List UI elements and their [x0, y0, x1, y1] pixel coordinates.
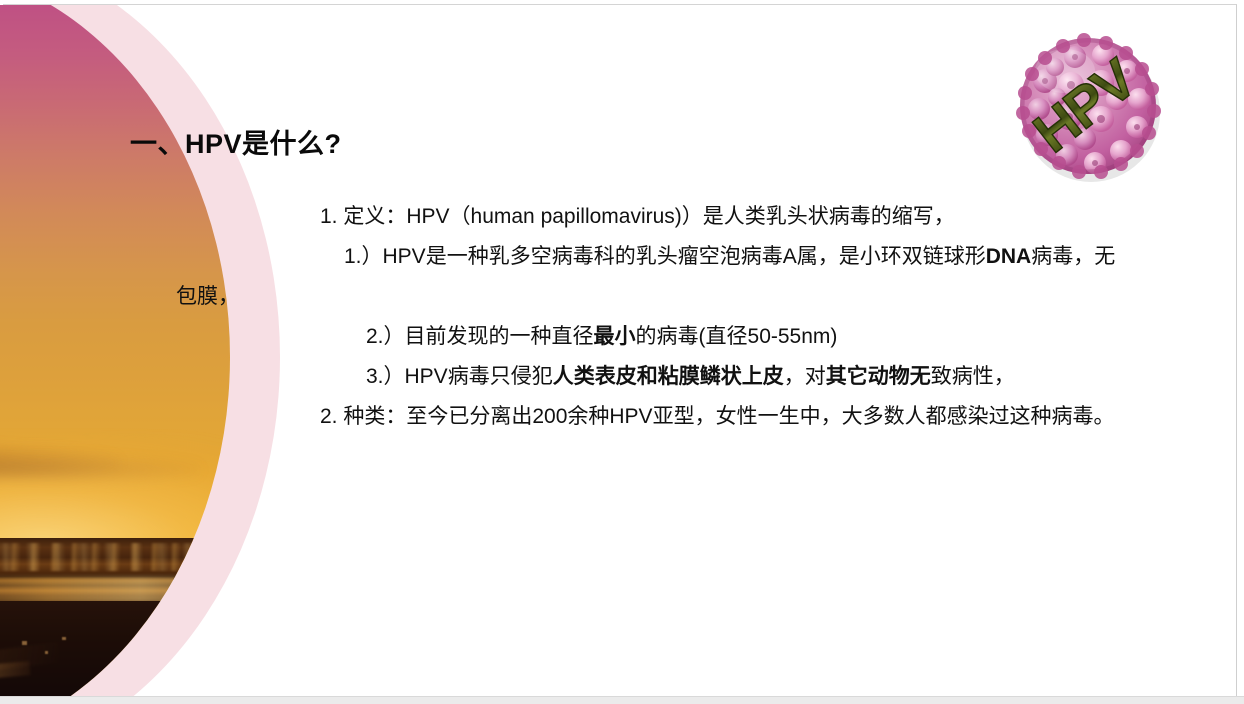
slide-bottom-edge [0, 696, 1244, 704]
body-line-sub-3: 3.）HPV病毒只侵犯人类表皮和粘膜鳞状上皮，对其它动物无致病性， [176, 357, 1116, 397]
body-line-sub-1: 1.）HPV是一种乳多空病毒科的乳头瘤空泡病毒A属，是小环双链球形DNA病毒，无… [176, 237, 1116, 317]
presentation-slide: 一、HPV是什么? [0, 0, 1244, 704]
wet-sand-glint [0, 577, 230, 603]
body-line-sub-3-text-a: 3.）HPV病毒只侵犯 [366, 365, 553, 388]
body-line-sub-3-bold-1: 人类表皮和粘膜鳞状上皮 [553, 365, 784, 388]
body-text-block: 1. 定义：HPV（human papillomavirus)）是人类乳头状病毒… [176, 197, 1116, 437]
body-line-sub-2-text-b: 的病毒(直径50-55nm) [636, 325, 838, 348]
body-line-types-text: 2. 种类：至今已分离出200余种HPV亚型，女性一生中，大多数人都感染过这种病… [320, 405, 1115, 428]
body-line-sub-2-text-a: 2.）目前发现的一种直径 [366, 325, 594, 348]
hpv-virus-svg: HPV [1009, 27, 1167, 185]
body-line-sub-1-text-a: 1.）HPV是一种乳多空病毒科的乳头瘤空泡病毒A属，是小环双链球形 [344, 245, 986, 268]
slide-canvas: 一、HPV是什么? [0, 4, 1237, 696]
foreground-glint-1 [22, 641, 27, 645]
body-line-definition: 1. 定义：HPV（human papillomavirus)）是人类乳头状病毒… [176, 197, 1116, 237]
body-line-sub-3-text-b: ，对 [784, 365, 826, 388]
body-line-sub-3-bold-2: 其它动物无 [826, 365, 931, 388]
body-line-sub-2-bold: 最小 [594, 325, 636, 348]
foreground-glint-3 [45, 651, 48, 654]
body-line-sub-2: 2.）目前发现的一种直径最小的病毒(直径50-55nm) [176, 317, 1116, 357]
foreground-glint-2 [62, 637, 66, 640]
hpv-virus-capsid-illustration: HPV [1009, 27, 1167, 185]
page-title: 一、HPV是什么? [130, 122, 342, 161]
ocean-sparkle [0, 543, 230, 571]
body-line-sub-1-bold: DNA [986, 245, 1032, 268]
body-line-types: 2. 种类：至今已分离出200余种HPV亚型，女性一生中，大多数人都感染过这种病… [176, 397, 1116, 437]
body-line-sub-3-text-c: 致病性， [931, 365, 1015, 388]
